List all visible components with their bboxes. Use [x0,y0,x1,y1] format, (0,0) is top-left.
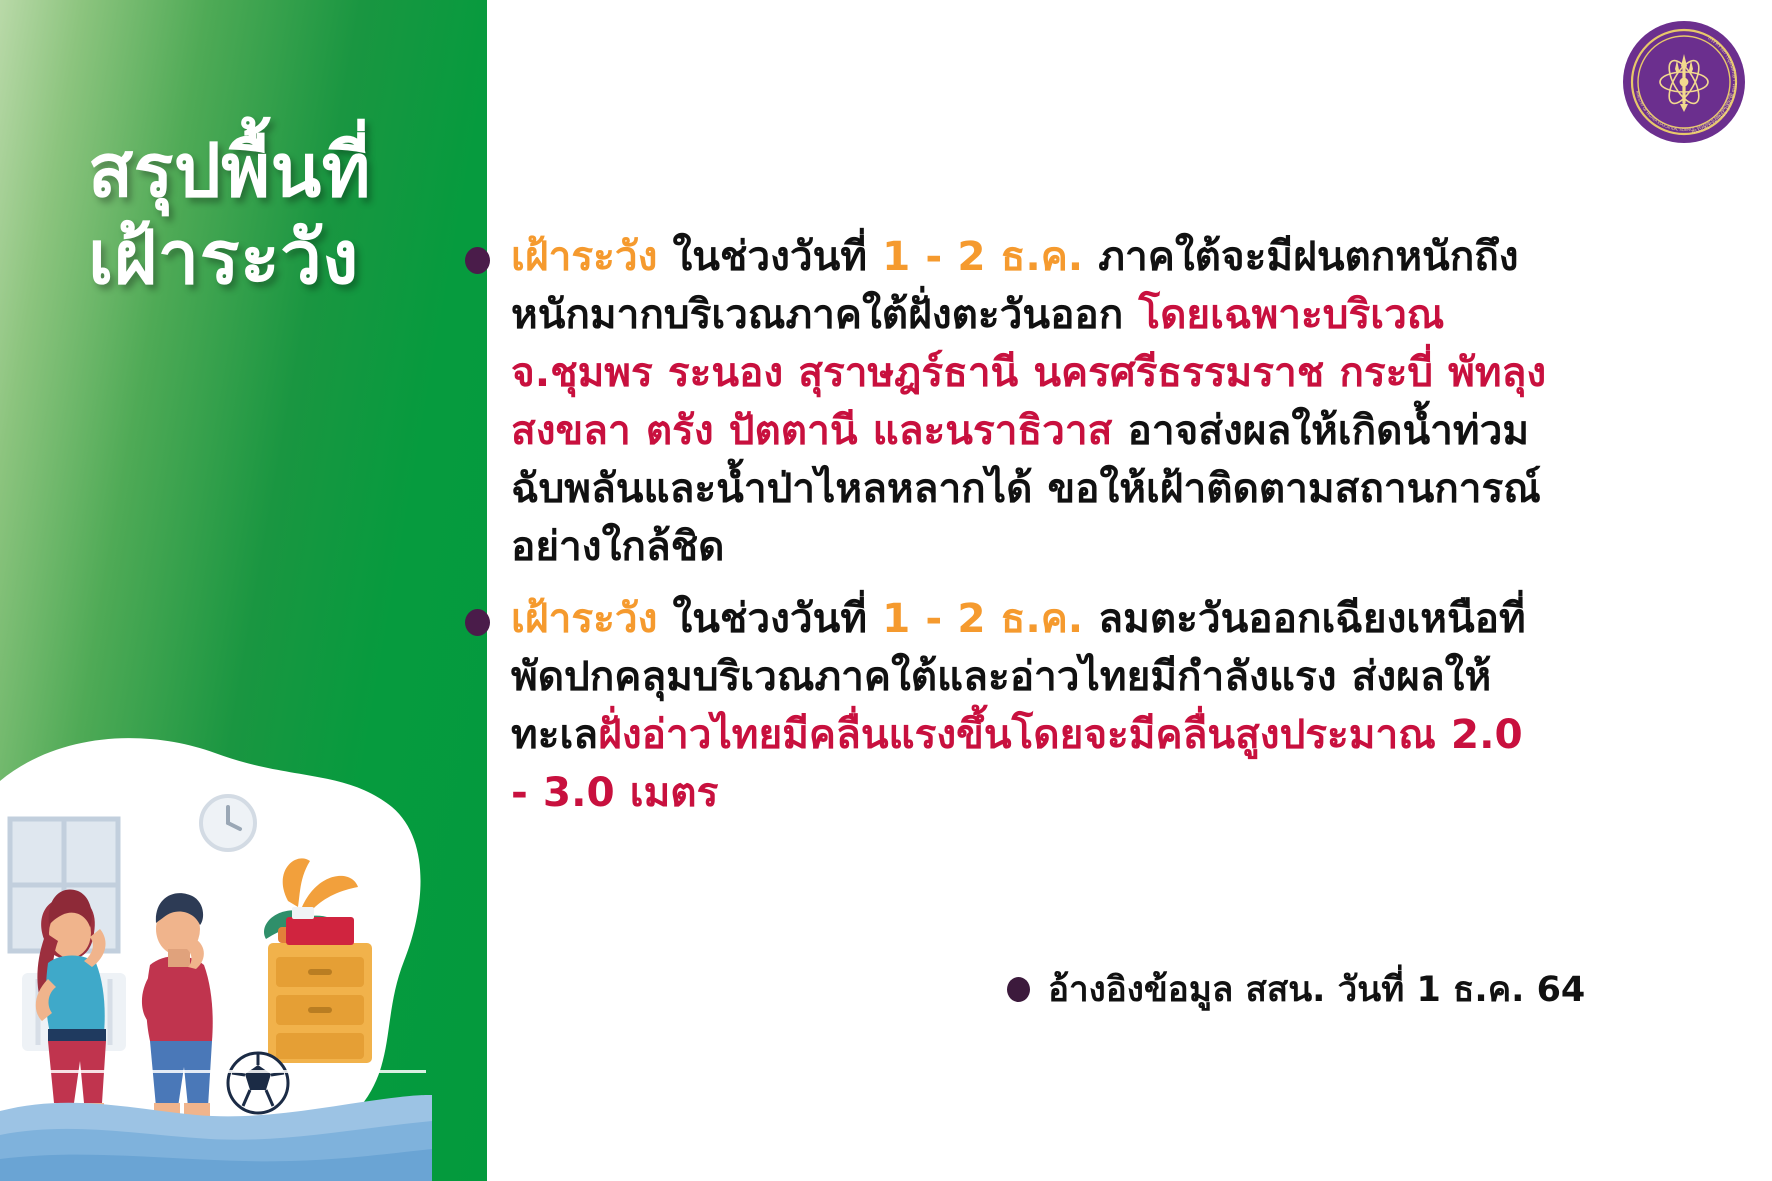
page-title: สรุปพื้นที่ เฝ้าระวัง [88,128,487,303]
poster-canvas: สรุปพื้นที่ เฝ้าระวัง [0,0,1772,1181]
text-run-red-4: ฝั่งอ่าวไทยมีคลื่นแรงขึ้นโดยจะมีคลื่นสูง… [511,710,1523,816]
text-run-orange-0: เฝ้าระวัง [511,232,657,280]
text-run-orange-2: 1 - 2 ธ.ค. [882,232,1083,280]
bullet-dot-icon [465,247,490,274]
advisory-bullet-2: เฝ้าระวัง ในช่วงวันที่ 1 - 2 ธ.ค. ลมตะวั… [487,590,1547,822]
text-run-plain-1: ในช่วงวันที่ [657,232,882,280]
content-area: เฝ้าระวัง ในช่วงวันที่ 1 - 2 ธ.ค. ภาคใต้… [487,0,1772,1181]
text-run-orange-0: เฝ้าระวัง [511,594,657,642]
text-run-plain-1: ในช่วงวันที่ [657,594,882,642]
source-footer: อ้างอิงข้อมูล สสน. วันที่ 1 ธ.ค. 64 [1007,962,1585,1017]
text-run-orange-2: 1 - 2 ธ.ค. [882,594,1083,642]
advisory-bullet-1: เฝ้าระวัง ในช่วงวันที่ 1 - 2 ธ.ค. ภาคใต้… [487,228,1547,575]
source-reference-text: อ้างอิงข้อมูล สสน. วันที่ 1 ธ.ค. 64 [1048,962,1585,1017]
advisory-text-2: เฝ้าระวัง ในช่วงวันที่ 1 - 2 ธ.ค. ลมตะวั… [487,590,1547,822]
footer-bullet-dot-icon [1007,977,1030,1002]
panel-divider [40,1070,426,1073]
left-green-panel: สรุปพื้นที่ เฝ้าระวัง [0,0,487,1181]
flooded-home-couple-illustration [0,711,432,1181]
advisory-text-1: เฝ้าระวัง ในช่วงวันที่ 1 - 2 ธ.ค. ภาคใต้… [487,228,1547,575]
bullet-dot-icon [465,609,490,636]
